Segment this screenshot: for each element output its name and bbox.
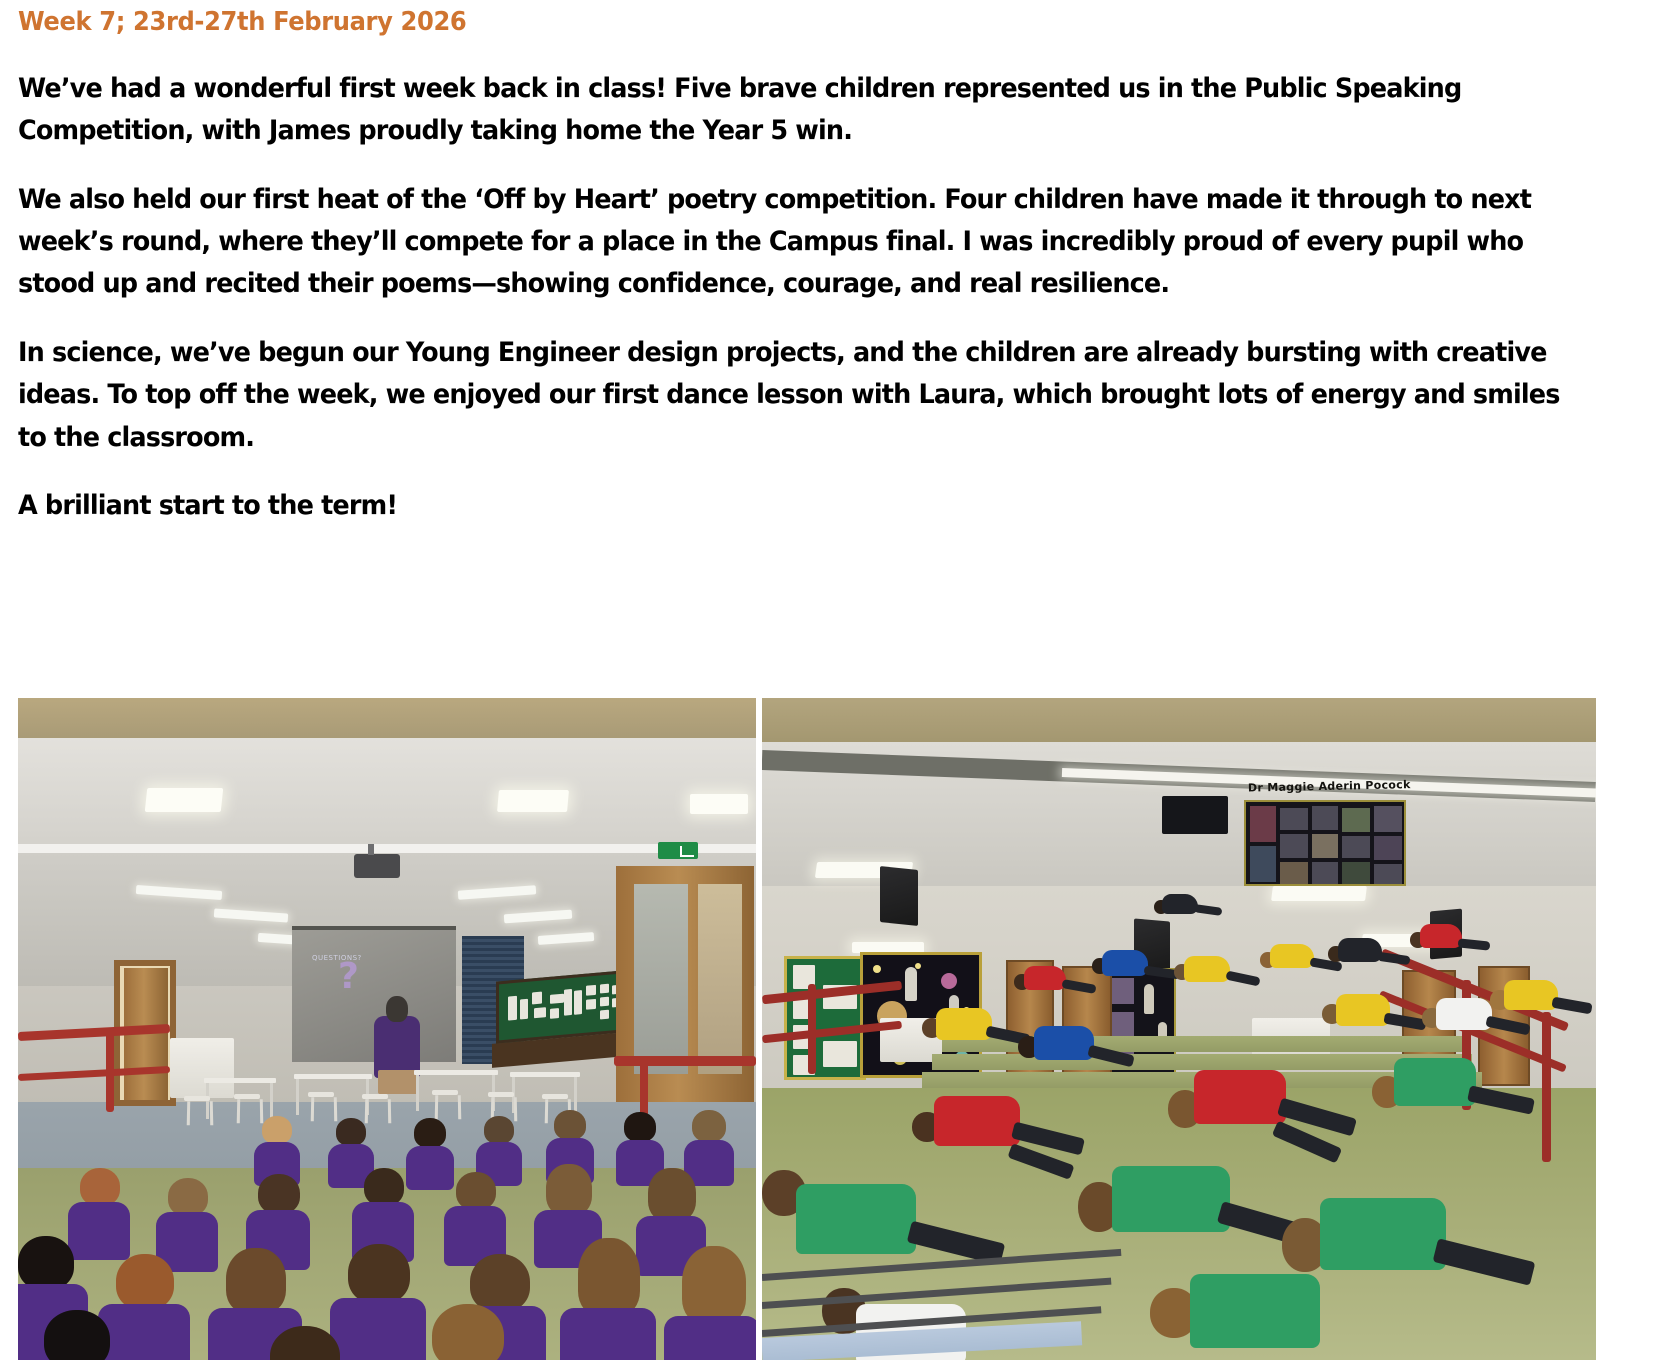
paragraph-2: We also held our first heat of the ‘Off … [18, 179, 1568, 306]
folding-table [204, 1078, 276, 1083]
stacking-stool [184, 1096, 210, 1126]
red-handrail-post [808, 984, 816, 1074]
hall-upper-ceiling [18, 698, 756, 740]
wall-mounted-screen [1162, 796, 1228, 834]
paragraph-3: In science, we’ve begun our Young Engine… [18, 332, 1568, 459]
ceiling-projector [354, 854, 400, 878]
presenter-head [386, 996, 408, 1022]
display-board-items [504, 979, 616, 1035]
page-title: Week 7; 23rd-27th February 2026 [18, 8, 1469, 38]
question-mark-icon: ? [338, 956, 359, 997]
presenter-body [374, 1016, 420, 1078]
paragraph-4: A brilliant start to the term! [18, 485, 1568, 527]
hall-soffit-lip [18, 844, 756, 853]
photo-assembly-presentation: QUESTIONS? ? [18, 698, 756, 1360]
folding-table [414, 1070, 498, 1075]
stacking-stool [308, 1092, 334, 1122]
hall-soffit [18, 738, 756, 848]
door-glass-panel [634, 884, 688, 1074]
folding-table [510, 1072, 580, 1077]
wall-heater [170, 1038, 234, 1098]
ceiling-light-panel [497, 790, 569, 812]
newsletter-text-block: Week 7; 23rd-27th February 2026 We’ve ha… [18, 8, 1578, 527]
folding-table [294, 1074, 372, 1079]
presenter-lectern [378, 1070, 418, 1094]
photo-dance-lesson: Dr Maggie Aderin Pocock [762, 698, 1596, 1360]
green-display-board [496, 970, 624, 1043]
paragraph-1: We’ve had a wonderful first week back in… [18, 68, 1568, 153]
door-glass-panel [698, 884, 742, 1074]
carpeted-step [932, 1054, 1472, 1070]
newsletter-page: Week 7; 23rd-27th February 2026 We’ve ha… [0, 0, 1670, 1360]
wall-speaker [880, 866, 918, 926]
hall-upper-ceiling [762, 698, 1596, 746]
green-display-board [784, 956, 866, 1080]
ceiling-light-panel [1271, 886, 1367, 901]
stacking-stool [234, 1094, 260, 1124]
wall-sign-text: Dr Maggie Aderin Pocock [1248, 778, 1394, 797]
stacking-stool [432, 1090, 458, 1120]
ceiling-light-panel [690, 794, 748, 814]
emergency-exit-icon [658, 842, 698, 859]
red-handrail [614, 1056, 756, 1066]
hall-double-door [616, 866, 754, 1102]
scientist-photo-display-board [1244, 800, 1406, 886]
photo-gallery: QUESTIONS? ? [18, 698, 1596, 1360]
red-handrail-post [1542, 1012, 1551, 1162]
red-handrail-post [106, 1028, 114, 1112]
stacking-stool [362, 1094, 388, 1124]
ceiling-light-panel [145, 788, 224, 812]
